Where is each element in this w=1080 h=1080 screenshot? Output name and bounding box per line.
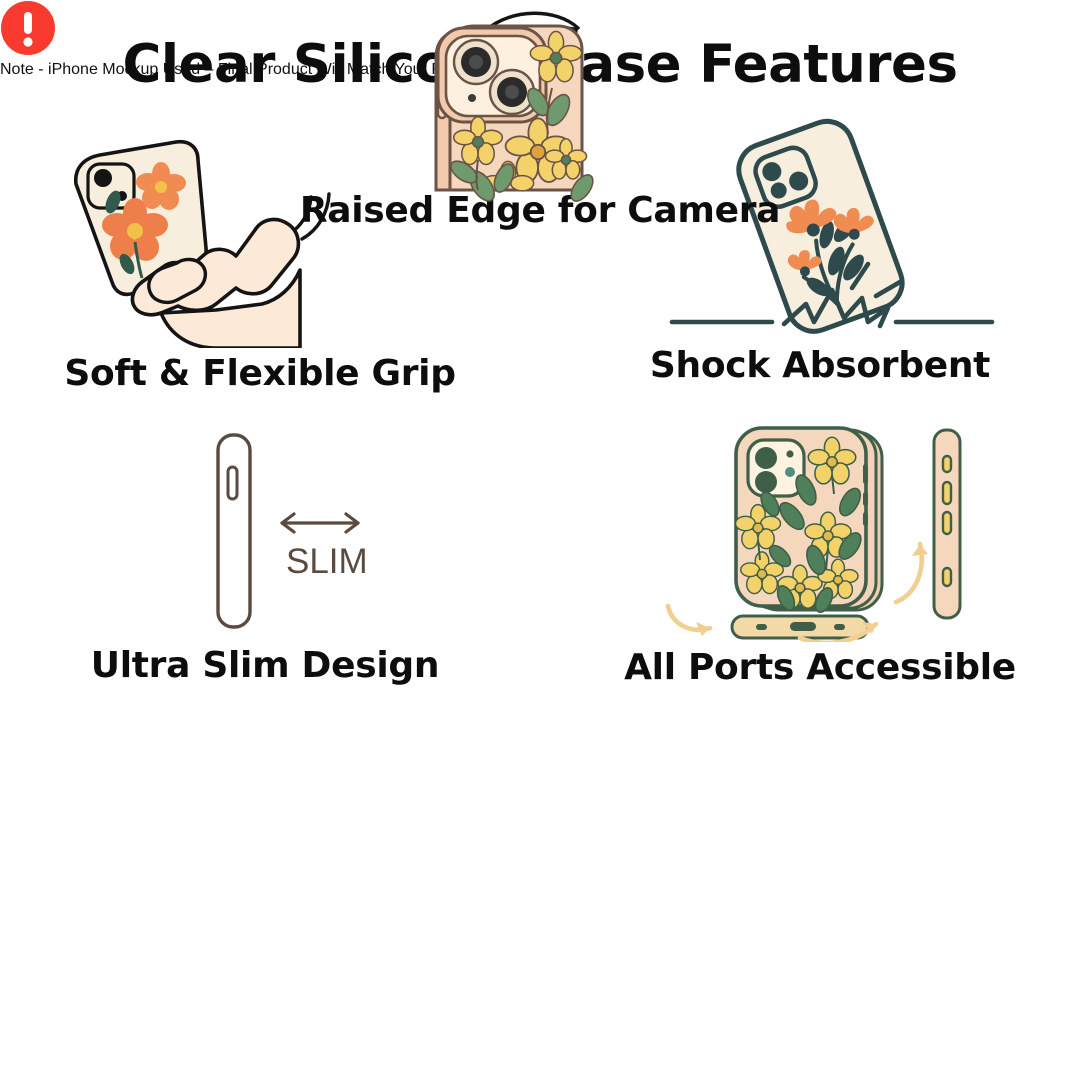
feature-label: All Ports Accessible xyxy=(610,647,1030,688)
phone-raised-camera-icon xyxy=(290,0,790,190)
feature-all-ports-accessible: All Ports Accessible xyxy=(610,420,1030,688)
phone-ports-views-icon xyxy=(610,420,1030,647)
feature-label: Raised Edge for Camera xyxy=(290,190,790,231)
feature-ultra-slim-design: SLIM Ultra Slim Design xyxy=(40,425,490,686)
feature-raised-edge-camera: Raised Edge for Camera xyxy=(290,0,790,231)
feature-label: Soft & Flexible Grip xyxy=(30,353,490,394)
slim-annotation-label: SLIM xyxy=(286,542,368,581)
feature-label: Shock Absorbent xyxy=(600,345,1040,386)
product-feature-infographic: Clear Silicone Case Features xyxy=(0,0,1080,1080)
phone-side-profile-icon: SLIM xyxy=(40,425,490,645)
feature-label: Ultra Slim Design xyxy=(40,645,490,686)
